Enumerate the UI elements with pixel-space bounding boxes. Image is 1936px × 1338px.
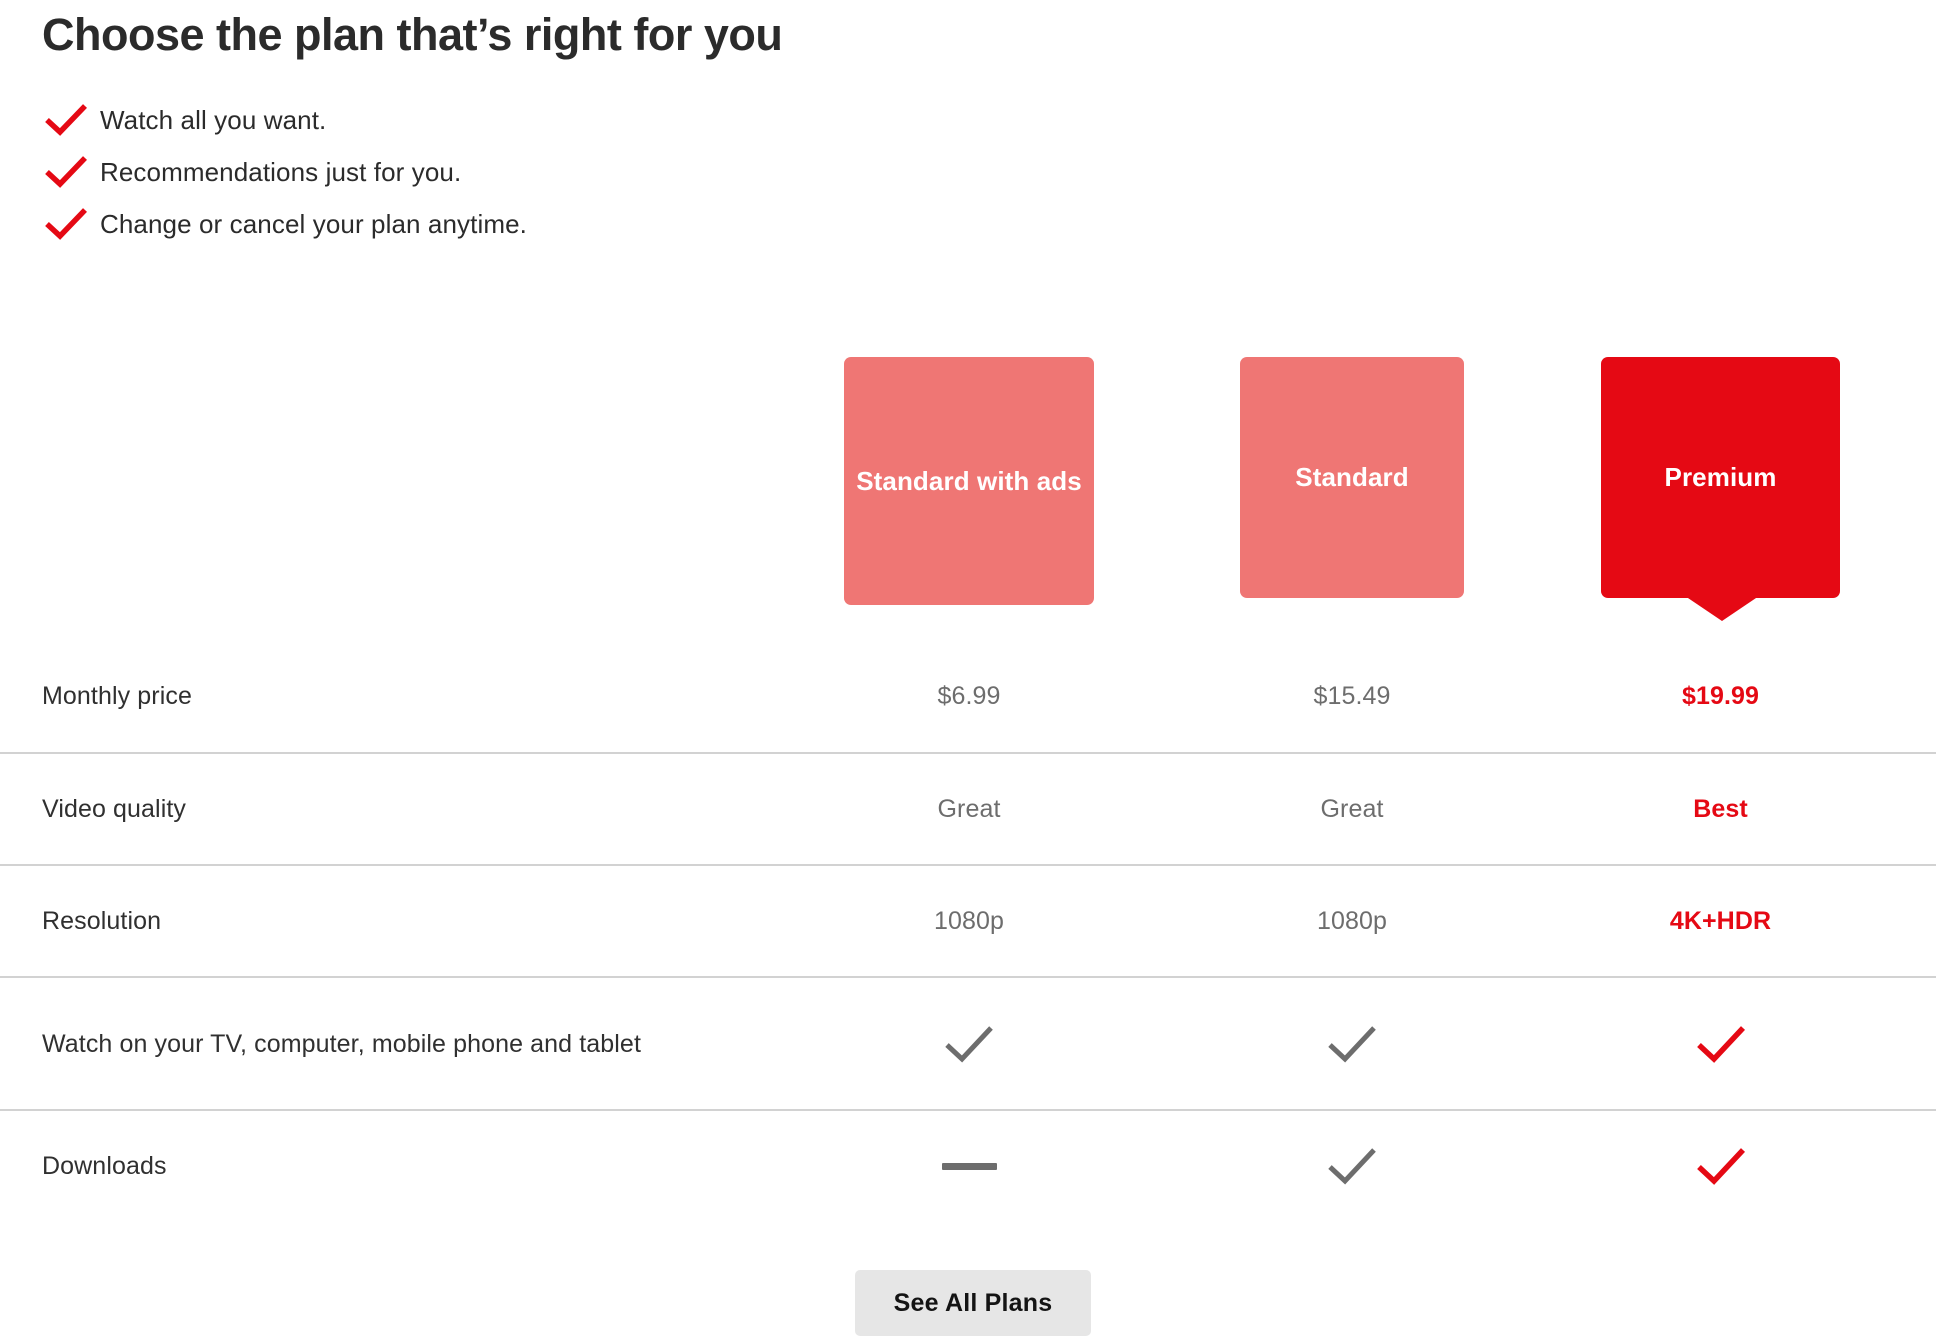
cell-value: $15.49 xyxy=(1240,640,1464,752)
plan-card-label: Premium xyxy=(1665,461,1777,494)
cell-value: 1080p xyxy=(1240,866,1464,976)
benefit-item: Watch all you want. xyxy=(44,94,527,146)
check-icon xyxy=(1326,1146,1378,1186)
cell-value: $19.99 xyxy=(1601,640,1840,752)
cell-value: $6.99 xyxy=(844,640,1094,752)
benefit-label: Change or cancel your plan anytime. xyxy=(100,209,527,239)
plan-card-label: Standard with ads xyxy=(856,465,1082,498)
check-icon xyxy=(943,1024,995,1064)
see-all-plans-button[interactable]: See All Plans xyxy=(855,1270,1091,1336)
check-icon xyxy=(1695,1024,1747,1064)
table-row-watch-devices: Watch on your TV, computer, mobile phone… xyxy=(0,976,1936,1109)
feature-label: Monthly price xyxy=(42,640,782,752)
benefit-item: Recommendations just for you. xyxy=(44,146,527,198)
check-icon xyxy=(44,155,100,189)
table-row-downloads: Downloads xyxy=(0,1109,1936,1221)
cell-value xyxy=(1240,1111,1464,1221)
feature-label: Watch on your TV, computer, mobile phone… xyxy=(42,978,782,1109)
feature-label: Video quality xyxy=(42,754,782,864)
plan-card-premium-pointer xyxy=(1685,596,1759,621)
plan-card-standard[interactable]: Standard xyxy=(1240,357,1464,598)
cell-value: Best xyxy=(1601,754,1840,864)
plan-card-standard-with-ads[interactable]: Standard with ads xyxy=(844,357,1094,605)
feature-label: Downloads xyxy=(42,1111,782,1221)
cell-value: Great xyxy=(844,754,1094,864)
cell-value: Great xyxy=(1240,754,1464,864)
cell-value xyxy=(844,978,1094,1109)
check-icon xyxy=(44,103,100,137)
cell-value xyxy=(1601,1111,1840,1221)
cell-value xyxy=(844,1111,1094,1221)
benefit-label: Watch all you want. xyxy=(100,105,326,135)
table-row-monthly-price: Monthly price $6.99 $15.49 $19.99 xyxy=(0,640,1936,752)
table-row-resolution: Resolution 1080p 1080p 4K+HDR xyxy=(0,864,1936,976)
benefit-label: Recommendations just for you. xyxy=(100,157,461,187)
cell-value: 1080p xyxy=(844,866,1094,976)
check-icon xyxy=(1326,1024,1378,1064)
plan-card-label: Standard xyxy=(1295,461,1408,494)
check-icon xyxy=(44,207,100,241)
plan-comparison-table: Monthly price $6.99 $15.49 $19.99 Video … xyxy=(0,640,1936,1221)
feature-label: Resolution xyxy=(42,866,782,976)
plan-comparison-page: Choose the plan that’s right for you Wat… xyxy=(0,0,1936,1338)
table-row-video-quality: Video quality Great Great Best xyxy=(0,752,1936,864)
cell-value: 4K+HDR xyxy=(1601,866,1840,976)
check-icon xyxy=(1695,1146,1747,1186)
benefits-list: Watch all you want. Recommendations just… xyxy=(44,94,527,250)
cell-value xyxy=(1240,978,1464,1109)
page-title: Choose the plan that’s right for you xyxy=(42,4,782,66)
dash-icon xyxy=(942,1163,997,1170)
plan-card-premium[interactable]: Premium xyxy=(1601,357,1840,598)
benefit-item: Change or cancel your plan anytime. xyxy=(44,198,527,250)
cell-value xyxy=(1601,978,1840,1109)
